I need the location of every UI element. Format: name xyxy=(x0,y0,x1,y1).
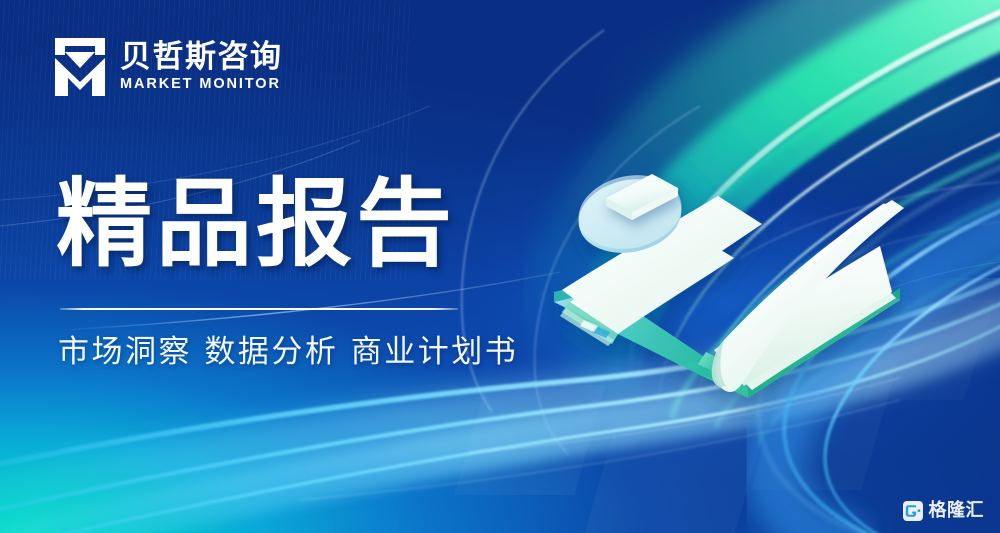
brand-logo: 贝哲斯咨询 MARKET MONITOR xyxy=(55,38,283,96)
brand-name-cn: 贝哲斯咨询 xyxy=(120,42,283,73)
page-subtitle: 市场洞察 数据分析 商业计划书 xyxy=(58,332,518,374)
title-divider xyxy=(60,308,458,310)
report-banner: 贝哲斯咨询 MARKET MONITOR 精品报告 市场洞察 数据分析 商业计划… xyxy=(0,0,1000,533)
watermark: 格隆汇 xyxy=(903,501,985,521)
page-title: 精品报告 xyxy=(56,176,456,272)
open-book-illustration xyxy=(548,150,958,425)
brand-name-en: MARKET MONITOR xyxy=(120,77,283,92)
gelonghui-g-icon xyxy=(903,501,923,521)
watermark-text: 格隆汇 xyxy=(929,502,985,520)
m-bracket-logo-icon xyxy=(55,38,105,96)
